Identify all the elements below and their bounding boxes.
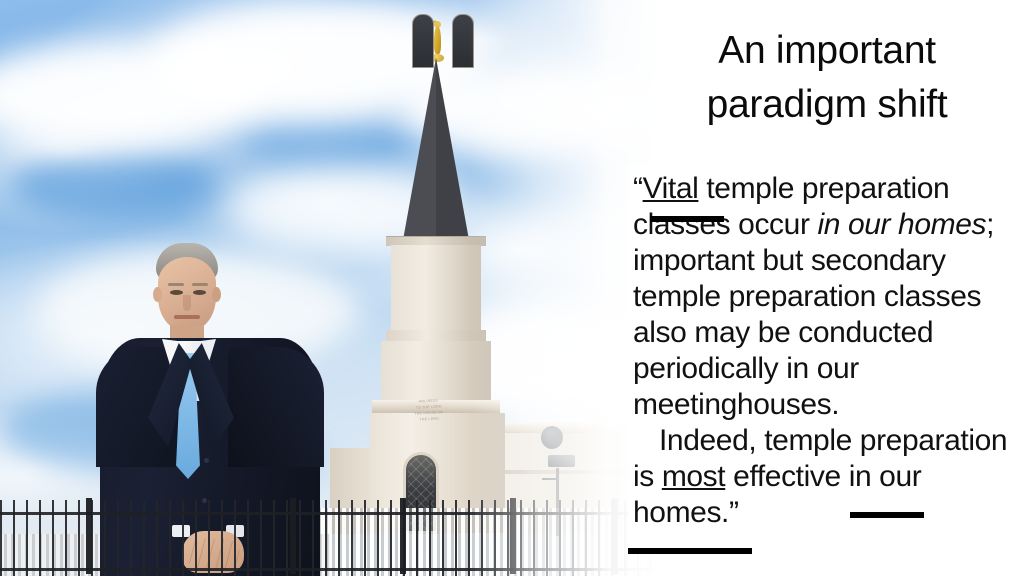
ear-right [212, 287, 221, 302]
page-title: An important paradigm shift [646, 24, 1008, 132]
eye-left [170, 290, 183, 295]
inscription-line-2: TO THE LORD [416, 404, 442, 409]
quote-space [725, 460, 733, 493]
belfry [391, 245, 481, 330]
eyebrow-right [192, 283, 208, 286]
quote-paragraph-2: Indeed, temple preparation is most effec… [633, 423, 1020, 531]
mouth [174, 315, 200, 319]
shoulder-right [228, 347, 324, 467]
emphasis-vital: Vital [643, 172, 699, 205]
heavy-underline-most [850, 512, 924, 518]
eyebrow-left [168, 283, 184, 286]
belfry-window [412, 14, 434, 68]
temple-inscription: HOLINESSTO THE LORDTHE HOUSE OFTHE LORD [399, 397, 458, 430]
temple-spire-shadow [436, 58, 469, 240]
quote-paragraph-1: “Vital temple preparation classes occur … [633, 171, 1020, 423]
heavy-underline-vital [650, 216, 724, 222]
iron-fence-post [86, 498, 92, 574]
inscription-line-1: HOLINESS [418, 399, 438, 404]
open-quote-mark: “ [633, 172, 643, 205]
iron-fence-post [400, 498, 406, 574]
inscription-line-3: THE HOUSE OF [414, 410, 443, 416]
text-panel: An important paradigm shift “Vital templ… [628, 0, 1024, 576]
ear-left [153, 287, 162, 302]
quote-block: “Vital temple preparation classes occur … [628, 165, 1024, 553]
statue-body [434, 26, 441, 54]
heavy-underline-effective [628, 548, 752, 554]
emphasis-effective: effective [733, 460, 841, 493]
emphasis-most: most [662, 460, 725, 493]
face [158, 257, 216, 331]
italic-in-our-homes: in our homes [817, 208, 986, 241]
iron-fence-post [290, 498, 296, 574]
inscription-line-4: THE LORD [419, 416, 439, 421]
temple-photograph: HOLINESSTO THE LORDTHE HOUSE OFTHE LORD [0, 0, 660, 576]
close-quote-mark: ” [729, 496, 739, 529]
nose [183, 295, 191, 311]
jacket-button [204, 458, 209, 463]
slide-canvas: HOLINESSTO THE LORDTHE HOUSE OFTHE LORD [0, 0, 1024, 576]
eye-right [193, 290, 206, 295]
